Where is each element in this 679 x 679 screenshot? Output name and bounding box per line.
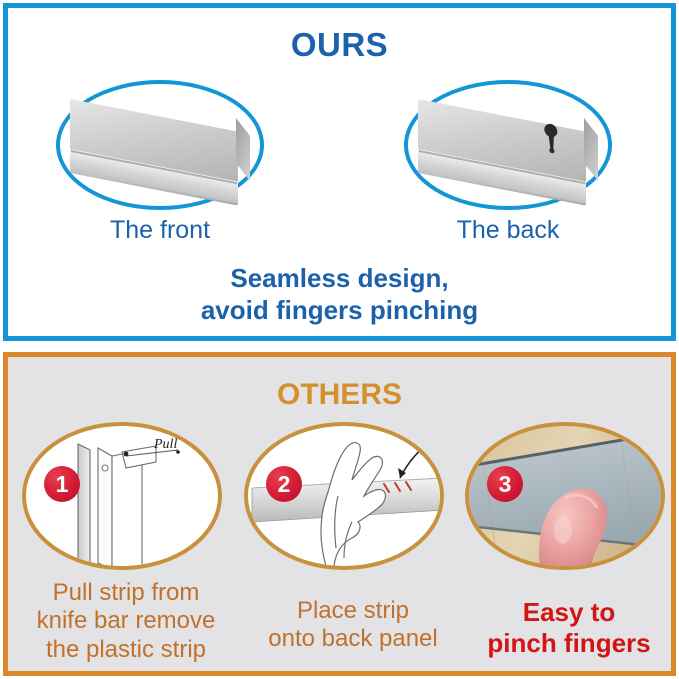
others-caption-2-line-1: Place strip	[254, 597, 452, 625]
ours-figure-row	[8, 80, 671, 210]
comparison-infographic: OURS	[0, 0, 679, 679]
keyhole-slot-icon	[544, 123, 559, 159]
others-caption-1: Pull strip from knife bar remove the pla…	[14, 579, 238, 664]
ours-tagline-line-2: avoid fingers pinching	[8, 295, 671, 327]
caption-the-back: The back	[404, 216, 612, 245]
bar-right-edge	[236, 118, 250, 181]
others-caption-1-line-3: the plastic strip	[14, 636, 238, 664]
others-title: OTHERS	[8, 378, 671, 412]
others-step-1: Pull 1	[22, 422, 222, 570]
svg-text:Pull: Pull	[153, 437, 177, 452]
others-caption-2: Place strip onto back panel	[254, 597, 452, 654]
others-caption-3-line-1: Easy to	[460, 597, 678, 628]
ours-tagline: Seamless design, avoid fingers pinching	[8, 263, 671, 326]
others-step-2: 2	[244, 422, 444, 570]
others-step-3: 3	[465, 422, 665, 570]
others-caption-1-line-1: Pull strip from	[14, 579, 238, 607]
others-caption-2-line-2: onto back panel	[254, 625, 452, 653]
others-caption-row: Pull strip from knife bar remove the pla…	[8, 579, 671, 675]
others-caption-3-line-2: pinch fingers	[460, 628, 678, 659]
step-badge-2: 2	[266, 466, 302, 502]
others-caption-1-line-2: knife bar remove	[14, 607, 238, 635]
ours-title: OURS	[8, 26, 671, 64]
caption-the-front: The front	[56, 216, 264, 245]
step-badge-1: 1	[44, 466, 80, 502]
ours-figure-back	[404, 80, 612, 210]
step-badge-3: 3	[487, 466, 523, 502]
ours-panel: OURS	[3, 3, 676, 341]
metal-bar-front-icon	[70, 93, 250, 197]
keyhole-tip	[549, 148, 554, 153]
others-caption-3: Easy to pinch fingers	[460, 597, 678, 658]
ours-caption-row: The front The back	[8, 216, 671, 254]
metal-bar-back-icon	[418, 93, 598, 197]
others-panel: OTHERS	[3, 352, 676, 676]
ours-tagline-line-1: Seamless design,	[8, 263, 671, 295]
others-figure-row: Pull 1	[8, 422, 671, 570]
ours-figure-front	[56, 80, 264, 210]
bar-right-edge	[584, 118, 598, 181]
